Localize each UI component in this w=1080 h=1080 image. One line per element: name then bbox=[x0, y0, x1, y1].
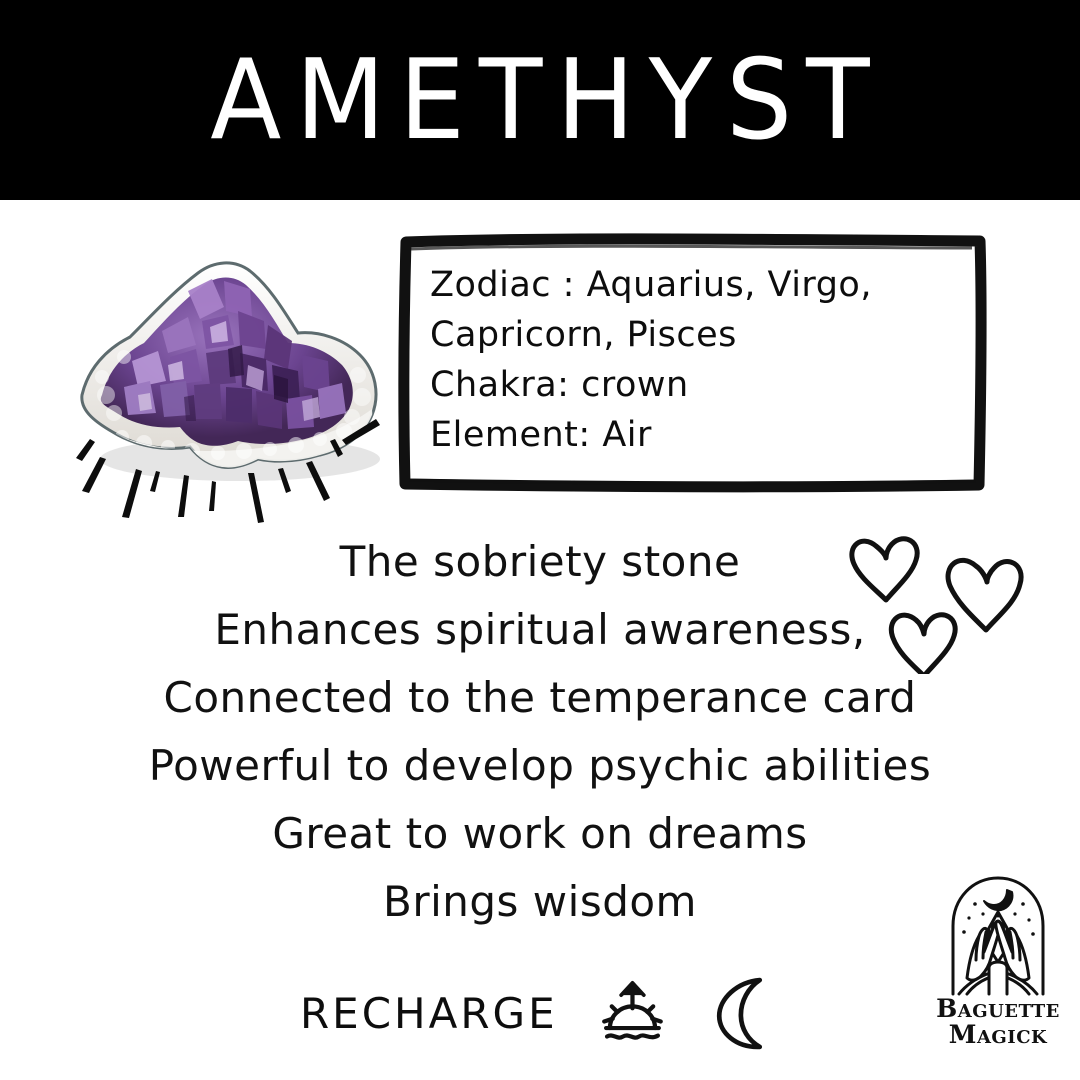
property-line-6: Brings wisdom bbox=[0, 868, 1080, 936]
info-line-chakra: Chakra: crown bbox=[430, 360, 970, 410]
crescent-moon-icon bbox=[707, 972, 780, 1054]
logo-text: Baguette Magick bbox=[928, 996, 1068, 1047]
logo-line-2: Magick bbox=[928, 1022, 1068, 1048]
info-box: Zodiac : Aquarius, Virgo, Capricorn, Pis… bbox=[398, 232, 988, 494]
amethyst-geode-cluster-icon bbox=[62, 245, 392, 545]
recharge-row: RECHARGE bbox=[300, 968, 780, 1058]
page-title: AMETHYST bbox=[0, 36, 1080, 163]
property-line-5: Great to work on dreams bbox=[0, 800, 1080, 868]
recharge-label: RECHARGE bbox=[300, 989, 558, 1038]
heart-decorations bbox=[848, 524, 1068, 674]
logo-line-1: Baguette bbox=[928, 996, 1068, 1022]
info-line-zodiac: Zodiac : Aquarius, Virgo, bbox=[430, 260, 970, 310]
property-line-4: Powerful to develop psychic abilities bbox=[0, 732, 1080, 800]
hands-holding-crystal-arch-icon bbox=[939, 868, 1057, 996]
info-line-zodiac-cont: Capricorn, Pisces bbox=[430, 310, 970, 360]
sunrise-icon bbox=[592, 970, 673, 1056]
info-box-text: Zodiac : Aquarius, Virgo, Capricorn, Pis… bbox=[430, 260, 970, 460]
heart-icon bbox=[948, 560, 1021, 630]
brand-logo[interactable]: Baguette Magick bbox=[928, 868, 1068, 1060]
amethyst-geode-image bbox=[62, 245, 392, 545]
property-line-3: Connected to the temperance card bbox=[0, 664, 1080, 732]
hearts-group-icon bbox=[848, 524, 1068, 674]
info-line-element: Element: Air bbox=[430, 410, 970, 460]
heart-icon bbox=[852, 539, 917, 600]
heart-icon bbox=[891, 615, 955, 674]
